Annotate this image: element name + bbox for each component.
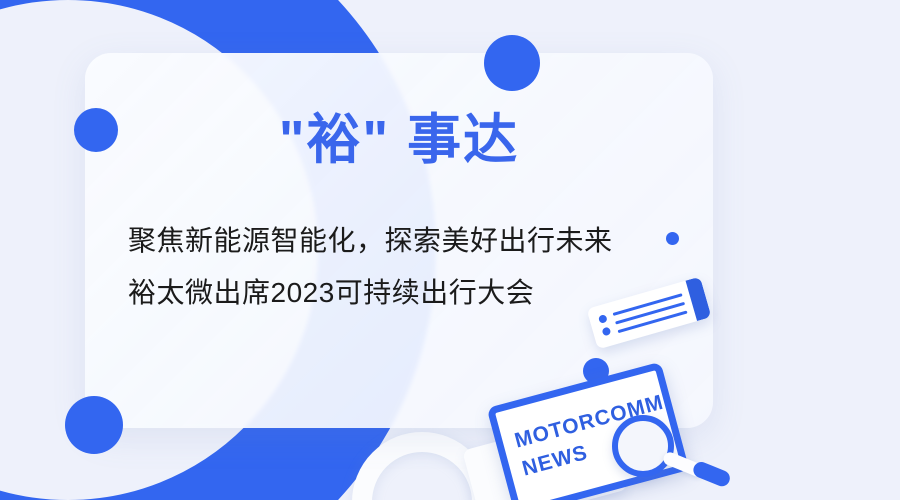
blue-dot-card-top — [484, 35, 540, 91]
magnifier-lens — [612, 415, 674, 477]
bullet-dot-icon — [666, 232, 679, 245]
page-title: "裕" 事达 — [85, 95, 713, 174]
magnifier-icon — [612, 415, 674, 477]
chip-bullet-2-icon — [601, 326, 611, 336]
subtitle-line-1: 聚焦新能源智能化，探索美好出行未来 — [128, 215, 673, 267]
poster-canvas: "裕" 事达 聚焦新能源智能化，探索美好出行未来 裕太微出席2023可持续出行大… — [0, 0, 900, 500]
subtitle-block: 聚焦新能源智能化，探索美好出行未来 裕太微出席2023可持续出行大会 — [128, 215, 673, 319]
chip-bullet-1-icon — [598, 314, 608, 324]
blue-dot-bottom-left — [65, 396, 123, 454]
